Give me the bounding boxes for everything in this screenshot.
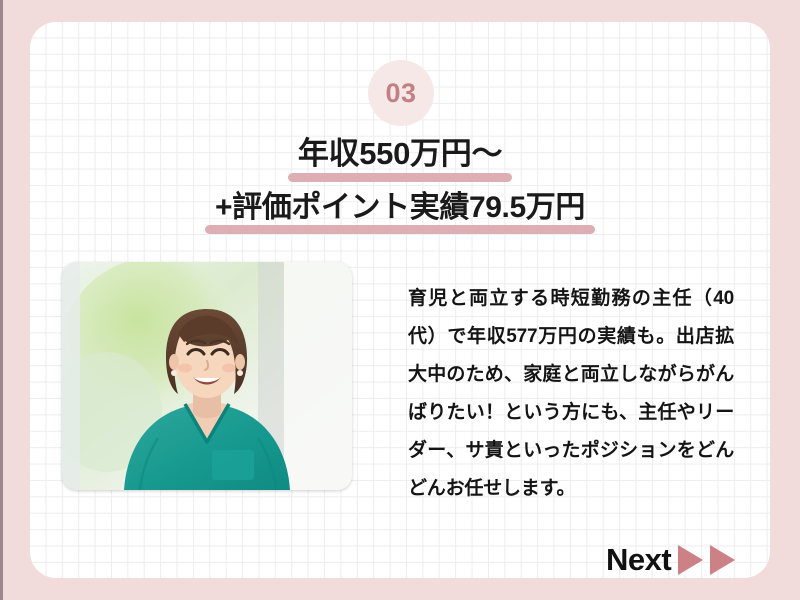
step-number-badge: 03	[368, 60, 434, 126]
next-label: Next	[606, 544, 671, 575]
headline-row-2: +評価ポイント実績79.5万円	[30, 190, 770, 225]
chevron-right-icon-1	[678, 545, 703, 575]
body-paragraph: 育児と両立する時短勤務の主任（40代）で年収577万円の実績も。出店拡大中のため…	[408, 280, 734, 508]
headline-secondary-text: +評価ポイント実績79.5万円	[215, 191, 585, 224]
content-card: 03 年収550万円〜 +評価ポイント実績79.5万円	[30, 22, 770, 578]
chevron-right-icon-2	[710, 545, 735, 575]
left-edge-strip	[0, 0, 3, 600]
slide-root: 03 年収550万円〜 +評価ポイント実績79.5万円	[0, 0, 800, 600]
step-number-label: 03	[385, 80, 416, 107]
headline-row-1: 年収550万円〜	[30, 136, 770, 173]
headline-primary: 年収550万円〜	[292, 136, 508, 173]
headline-primary-text: 年収550万円〜	[298, 136, 502, 171]
headline-secondary-underline	[205, 225, 595, 234]
staff-photo	[62, 262, 352, 490]
next-button[interactable]: Next	[606, 544, 735, 575]
headline-secondary: +評価ポイント実績79.5万円	[209, 190, 591, 225]
headline-primary-underline	[288, 173, 512, 182]
